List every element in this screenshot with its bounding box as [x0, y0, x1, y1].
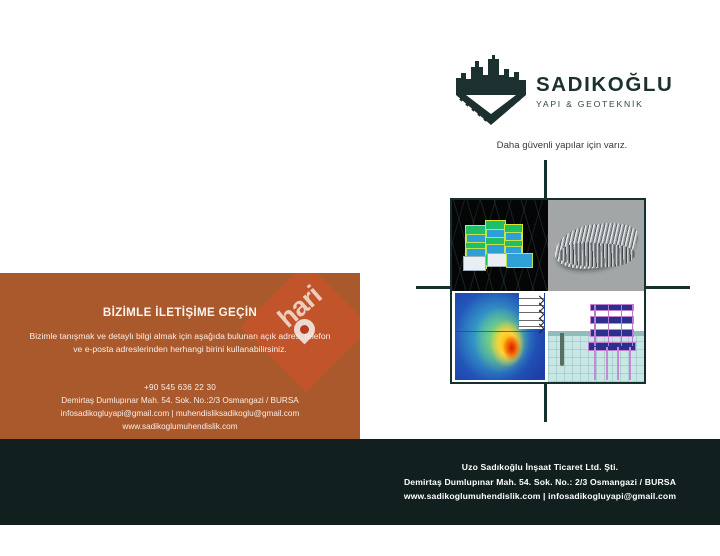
contact-phone[interactable]: +90 545 636 22 30	[0, 381, 360, 394]
contact-website[interactable]: www.sadikoglumuhendislik.com	[0, 420, 360, 433]
contact-description: Bizimle tanışmak ve detaylı bilgi almak …	[24, 330, 336, 357]
deformed-slab-mesh-image	[548, 200, 644, 291]
contact-heading: BİZİMLE İLETİŞİME GEÇİN	[0, 306, 360, 319]
footer-address: Demirtaş Dumlupınar Mah. 54. Sok. No.: 2…	[404, 475, 676, 490]
footer-band: Uzo Sadıkoğlu İnşaat Ticaret Ltd. Şti. D…	[0, 439, 720, 525]
load-arrow-panel	[519, 293, 544, 329]
contact-emails[interactable]: infosadikogluyapi@gmail.com | muhendisli…	[0, 407, 360, 420]
brand-wordmark: SADIKOĞLU YAPI & GEOTEKNİK	[536, 75, 656, 109]
skyline-shield-icon	[452, 55, 530, 127]
footer-content: Uzo Sadıkoğlu İnşaat Ticaret Ltd. Şti. D…	[360, 439, 720, 525]
piled-foundation-model-image	[548, 291, 644, 382]
poster-canvas: SADIKOĞLU YAPI & GEOTEKNİK Daha güvenli …	[0, 0, 720, 556]
contour-reference-line	[455, 331, 545, 332]
collage-grid	[450, 198, 646, 384]
brand-name: SADIKOĞLU	[536, 75, 656, 96]
stress-contour-plot-image	[452, 291, 548, 382]
fem-frame-model-image	[452, 200, 548, 291]
brand-logo: SADIKOĞLU YAPI & GEOTEKNİK	[452, 55, 652, 127]
brand-tagline: Daha güvenli yapılar için varız.	[452, 140, 672, 151]
footer-company: Uzo Sadıkoğlu İnşaat Ticaret Ltd. Şti.	[462, 460, 618, 475]
footer-web-email[interactable]: www.sadikoglumuhendislik.com | infosadik…	[404, 489, 676, 504]
brand-subtitle: YAPI & GEOTEKNİK	[536, 99, 656, 109]
retaining-wall	[560, 333, 564, 366]
contact-address: Demirtaş Dumlupınar Mah. 54. Sok. No.:2/…	[0, 394, 360, 407]
contact-panel: hari BİZİMLE İLETİŞİME GEÇİN Bizimle tan…	[0, 273, 360, 439]
contact-details: +90 545 636 22 30 Demirtaş Dumlupınar Ma…	[0, 381, 360, 434]
image-collage	[400, 160, 690, 422]
